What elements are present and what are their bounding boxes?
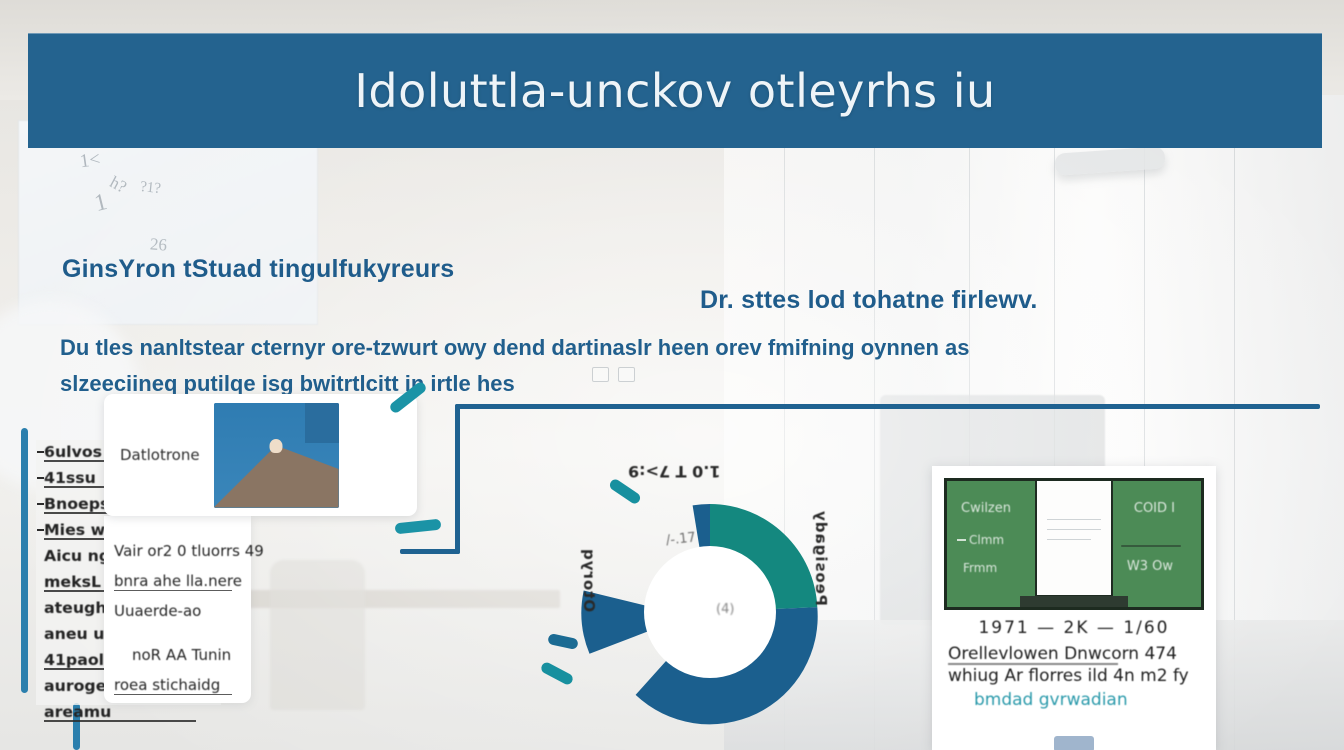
donut-chart: 1.0 T 7>:9 /-.17 (4) Peosigady Otoryq	[520, 440, 900, 750]
panel-line: bnra ahe lla.nere	[114, 570, 251, 592]
chalkboard-tray	[1020, 596, 1128, 607]
card-label: Datlotrone	[120, 446, 200, 464]
monitor-caption: 1971 — 2K — 1/60 Orellevlowen Dnwcorn 47…	[944, 610, 1204, 710]
sky-shade	[305, 403, 339, 443]
monitor-numbers: 1971 — 2K — 1/60	[948, 618, 1200, 638]
panel-line: noR AA Tunin	[114, 644, 251, 666]
donut-center-mark: /-.17	[665, 530, 696, 548]
chalkboard: Cwilzen Clmm Frmm COID I W3 Ow	[944, 478, 1204, 610]
accent-tick	[547, 633, 579, 650]
donut-center-note: (4)	[716, 602, 734, 617]
panel-line: roea stichaidg	[114, 674, 251, 696]
doc-icon	[618, 367, 635, 382]
image-card[interactable]: Datlotrone	[104, 394, 417, 516]
document-icon	[1035, 478, 1113, 597]
house-roof-image	[214, 403, 339, 508]
chart-label-right: Peosigady	[800, 510, 830, 606]
section-body: Du tles nanltstear cternyr ore-tzwurt ow…	[60, 330, 1190, 402]
chalkboard-dash	[957, 539, 966, 541]
inline-doc-icons	[592, 367, 635, 382]
monitor-caption-accent: bmdad gvrwadian	[948, 690, 1200, 710]
chalkboard-line: COID I	[1134, 501, 1175, 516]
monitor-stand	[1054, 736, 1094, 750]
donut-hole	[644, 546, 776, 678]
accent-tick	[539, 661, 574, 687]
roof-finial	[270, 439, 283, 453]
section-heading-right: Dr. sttes lod tohatne firlewv.	[700, 286, 1220, 315]
panel-line: Uuaerde-ao	[114, 600, 251, 622]
page-title: Idoluttla-unckov otleyrhs iu	[354, 64, 995, 118]
monitor-caption-line: Orellevlowen Dnwcorn 474	[948, 644, 1200, 664]
chalkboard-line: Frmm	[963, 561, 997, 575]
secondary-panel: Vair or2 0 tluorrs 49 bnra ahe lla.nere …	[104, 516, 251, 703]
chart-label-left: Otoryq	[572, 548, 598, 612]
list-item: areamu	[44, 700, 221, 724]
header-banner: Idoluttla-unckov otleyrhs iu	[28, 33, 1322, 148]
monitor-caption-line: whiug Ar florres ild 4n m2 fy	[948, 666, 1200, 686]
section-heading-left: GinsYron tStuad tingulfukyreurs	[62, 255, 682, 284]
chalkboard-line: Cwilzen	[961, 501, 1011, 516]
connector-horizontal	[455, 404, 1320, 409]
chart-title: 1.0 T 7>:9	[628, 462, 720, 481]
body-line-1: Du tles nanltstear cternyr ore-tzwurt ow…	[60, 330, 1190, 366]
left-rail	[21, 428, 28, 693]
chalkboard-line: W3 Ow	[1127, 559, 1173, 574]
panel-line: Vair or2 0 tluorrs 49	[114, 540, 251, 562]
monitor-panel[interactable]: Cwilzen Clmm Frmm COID I W3 Ow 1971 — 2K…	[932, 466, 1216, 750]
chalkboard-underline	[1121, 545, 1181, 547]
doc-icon	[592, 367, 609, 382]
connector-vertical	[455, 404, 460, 554]
connector-foot	[400, 549, 460, 554]
chalkboard-line: Clmm	[969, 533, 1004, 547]
